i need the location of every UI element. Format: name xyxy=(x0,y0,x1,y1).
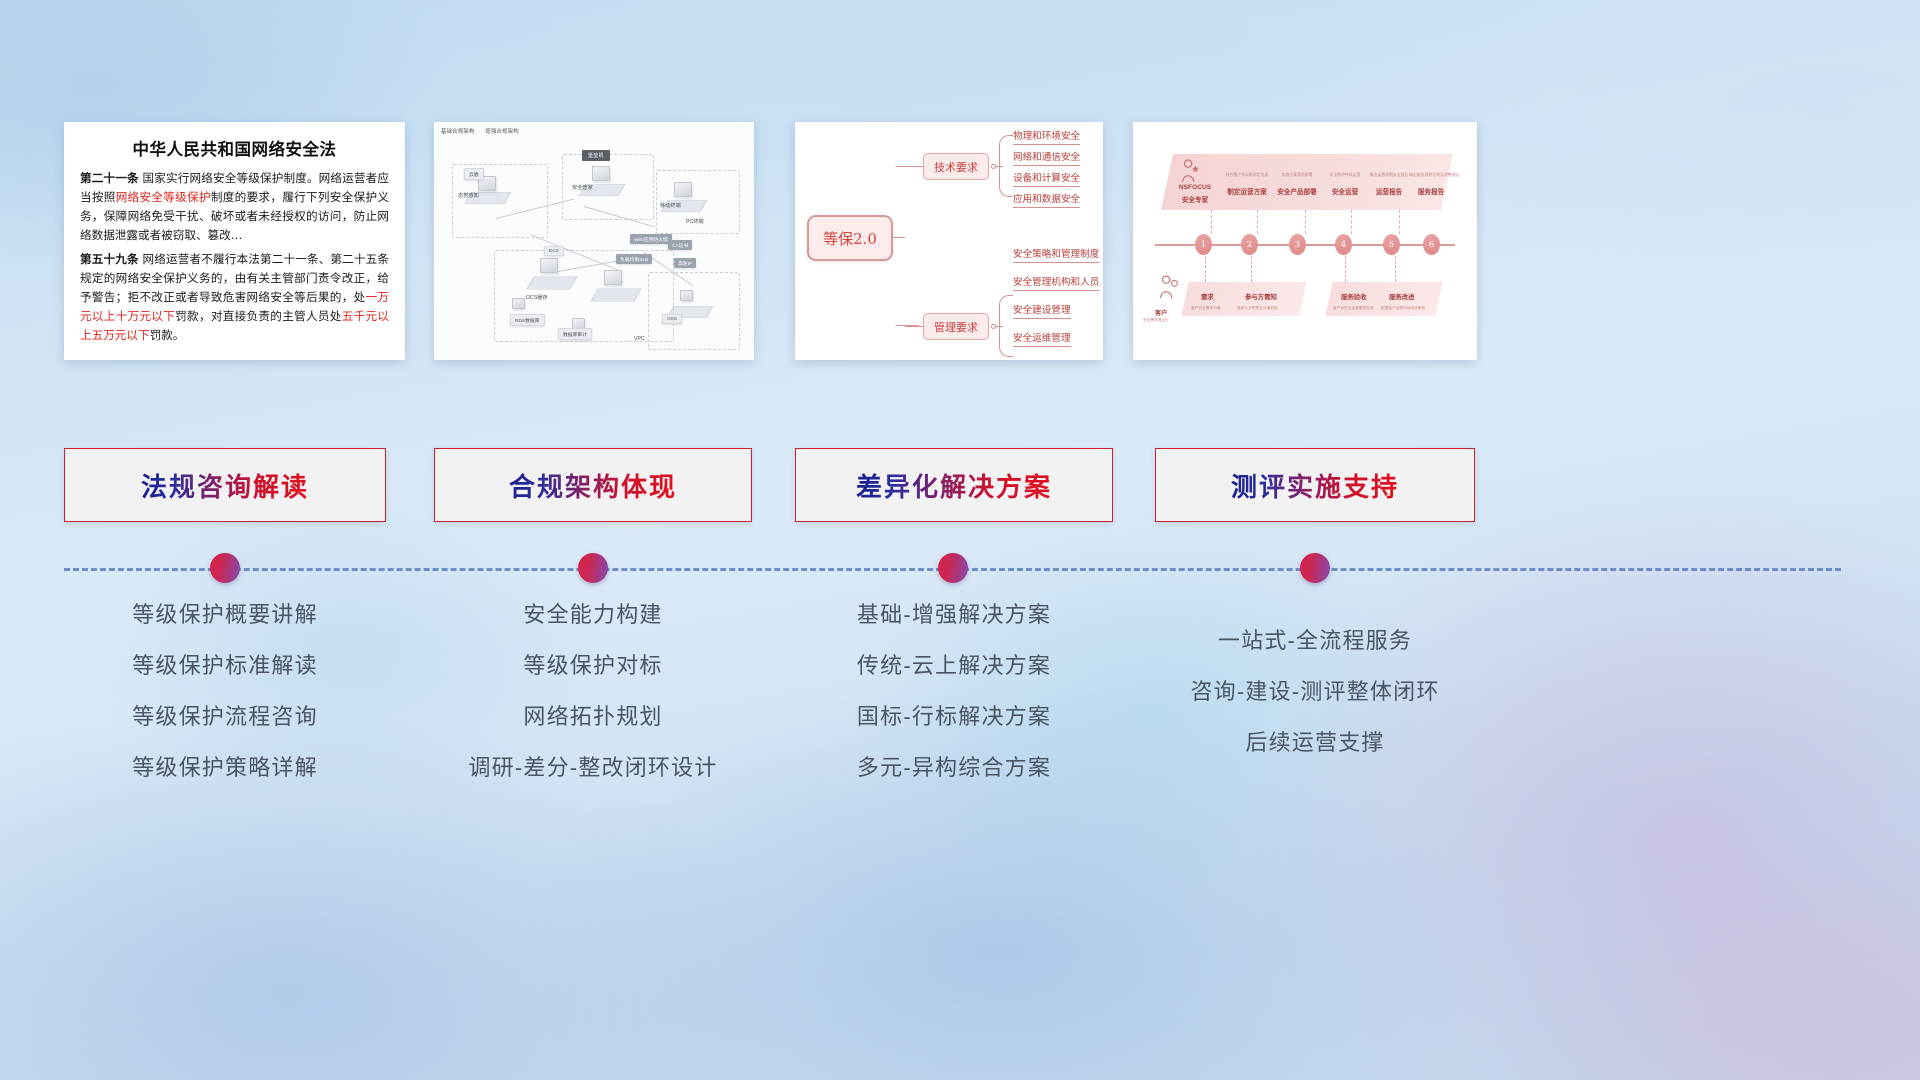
thumbnail-card-timeline[interactable]: NSFOCUS 安全专家 结合客户实际需求定出具 制定运营方案 实施方案落地部署… xyxy=(1133,122,1477,360)
architecture-node-icon xyxy=(540,258,558,273)
expert-label-line1: NSFOCUS xyxy=(1171,184,1219,191)
architecture-diagram: 基础合规架构 增强合规架构 堡垒机 xyxy=(434,122,754,360)
list-item: 国标-行标解决方案 xyxy=(795,706,1113,728)
architecture-header-right: 增强合规架构 xyxy=(485,129,519,135)
banner-title: 合规架构体现 xyxy=(509,467,677,504)
architecture-label: VPC xyxy=(634,336,645,342)
banner-row: 法规咨询解读 合规架构体现 差异化解决方案 测评实施支持 xyxy=(0,448,1920,522)
timeline-step-sub: 实施方案落地部署 xyxy=(1273,172,1321,178)
mindmap-leaf: 物理和环境安全 xyxy=(1013,128,1080,145)
timeline-lower-label: 服务改进 xyxy=(1389,292,1415,301)
architecture-pill: OSS xyxy=(662,314,682,324)
timeline-step-sub: 结合客户实际需求定出具 xyxy=(1223,172,1271,178)
architecture-node-icon xyxy=(604,270,622,285)
mindmap-branch-link xyxy=(905,166,923,167)
timeline-step-label: 制定运营方案 xyxy=(1223,186,1271,196)
timeline-connector xyxy=(1351,210,1352,234)
thumbnail-row: 中华人民共和国网络安全法 第二十一条 国家实行网络安全等级保护制度。网络运营者应… xyxy=(0,122,1920,362)
timeline-lower-label: 服务验收 xyxy=(1341,292,1367,301)
timeline-lower-sub: 各参与方职责及沟通机制 xyxy=(1237,306,1278,311)
architecture-label: 安全管家 xyxy=(572,184,593,191)
architecture-label: PC终端 xyxy=(686,218,704,225)
timeline-upper-banner: NSFOCUS 安全专家 结合客户实际需求定出具 制定运营方案 实施方案落地部署… xyxy=(1161,154,1453,210)
law-article-59-label: 第五十九条 xyxy=(80,252,139,266)
architecture-pill: CA证书 xyxy=(668,240,692,250)
architecture-plate xyxy=(526,277,578,290)
timeline-step-label: 安全产品部署 xyxy=(1273,186,1321,196)
banner-differentiated-solution[interactable]: 差异化解决方案 xyxy=(795,448,1113,522)
timeline-connector xyxy=(1305,210,1306,234)
law-article-59: 第五十九条 网络运营者不履行本法第二十一条、第二十五条规定的网络安全保护义务的，… xyxy=(80,250,389,345)
timeline-lower-sub: 根据客户反馈持续改进服务 xyxy=(1381,306,1425,311)
list-item: 后续运营支撑 xyxy=(1155,732,1475,754)
architecture-pill: 高防IP xyxy=(674,258,696,268)
law-article-59-text-b: 罚款，对直接负责的主管人员处 xyxy=(175,309,342,323)
timeline-connector xyxy=(1399,210,1400,234)
timeline-connector xyxy=(1257,210,1258,234)
mindmap-leaf: 安全建设管理 xyxy=(1013,302,1071,319)
thumbnail-card-law[interactable]: 中华人民共和国网络安全法 第二十一条 国家实行网络安全等级保护制度。网络运营者应… xyxy=(64,122,405,360)
timeline-step-sub: 输出服务周期总结及改善建议 xyxy=(1409,172,1453,178)
law-article-59-text-c: 罚款。 xyxy=(150,328,185,342)
law-article-21-label: 第二十一条 xyxy=(80,171,139,185)
expert-label-line2: 安全专家 xyxy=(1171,194,1219,204)
list-item: 基础-增强解决方案 xyxy=(795,604,1113,626)
architecture-pill: Web应用防火墙 xyxy=(630,234,672,244)
mindmap-fan-stem xyxy=(995,166,1003,167)
mindmap-leaf: 网络和通信安全 xyxy=(1013,149,1080,166)
list-item: 等级保护对标 xyxy=(434,655,752,677)
mindmap-branch-link xyxy=(905,326,923,327)
timeline-node: 5 xyxy=(1383,234,1400,255)
architecture-label: OCS缓存 xyxy=(526,294,548,301)
banner-regulation-consulting[interactable]: 法规咨询解读 xyxy=(64,448,386,522)
list-item: 传统-云上解决方案 xyxy=(795,655,1113,677)
architecture-pill: 云盾 xyxy=(464,168,484,180)
architecture-tag: 堡垒机 xyxy=(582,150,610,161)
timeline-lower-label: 需求 xyxy=(1201,292,1214,301)
list-item: 安全能力构建 xyxy=(434,604,752,626)
timeline-lower-label: 参与方需知 xyxy=(1245,292,1277,301)
architecture-label: 移动终端 xyxy=(660,202,681,209)
detail-list-column-4: 一站式-全流程服务 咨询-建设-测评整体闭环 后续运营支撑 xyxy=(1155,604,1475,783)
timeline-lower-sub: 客户对安全运营服务验收 xyxy=(1333,306,1374,311)
timeline-connector xyxy=(1345,256,1346,282)
timeline-lower-sub: 客户安全需求沟通 xyxy=(1191,306,1221,311)
list-item: 多元-异构综合方案 xyxy=(795,757,1113,779)
timeline-node: 2 xyxy=(1241,234,1258,255)
banner-title: 差异化解决方案 xyxy=(856,467,1052,504)
mindmap-fan-stem xyxy=(995,326,1003,327)
timeline-step-label: 服务报告 xyxy=(1409,186,1453,196)
mindmap-branch-technical: 技术要求 xyxy=(923,153,989,180)
timeline-step-label: 安全运营 xyxy=(1323,186,1367,196)
architecture-node-icon xyxy=(512,298,525,309)
architecture-plate xyxy=(590,289,642,302)
architecture-pill: 负载均衡SLB xyxy=(616,254,652,264)
mindmap-trunk xyxy=(895,166,919,326)
list-item: 等级保护策略详解 xyxy=(64,757,386,779)
mindmap-diagram: 等保2.0 技术要求 物理和环境安全 网络和通信安全 设备和计算安全 应用和数据… xyxy=(795,122,1103,360)
timeline-step-sub: 安全防护持续运营 xyxy=(1323,172,1367,178)
mindmap-root-node: 等保2.0 xyxy=(807,215,893,261)
service-timeline-diagram: NSFOCUS 安全专家 结合客户实际需求定出具 制定运营方案 实施方案落地部署… xyxy=(1133,122,1477,360)
law-article-21: 第二十一条 国家实行网络安全等级保护制度。网络运营者应当按照网络安全等级保护制度… xyxy=(80,169,389,245)
list-item: 一站式-全流程服务 xyxy=(1155,630,1475,652)
banner-compliance-architecture[interactable]: 合规架构体现 xyxy=(434,448,752,522)
timeline-connector xyxy=(1251,256,1252,282)
banner-evaluation-support[interactable]: 测评实施支持 xyxy=(1155,448,1475,522)
timeline-bead-2[interactable] xyxy=(578,553,608,583)
customer-person-icon xyxy=(1157,274,1179,300)
thumbnail-card-architecture[interactable]: 基础合规架构 增强合规架构 堡垒机 xyxy=(434,122,754,360)
expert-person-icon xyxy=(1179,159,1201,183)
architecture-pill: RDS数据库 xyxy=(510,314,545,326)
thumbnail-card-mindmap[interactable]: 等保2.0 技术要求 物理和环境安全 网络和通信安全 设备和计算安全 应用和数据… xyxy=(795,122,1103,360)
architecture-label: 态势感知 xyxy=(458,192,479,199)
list-item: 网络拓扑规划 xyxy=(434,706,752,728)
law-title: 中华人民共和国网络安全法 xyxy=(80,136,389,160)
law-document: 中华人民共和国网络安全法 第二十一条 国家实行网络安全等级保护制度。网络运营者应… xyxy=(64,122,405,360)
timeline-node: 1 xyxy=(1195,234,1212,255)
architecture-pill: 数据库审计 xyxy=(558,328,592,340)
banner-title: 法规咨询解读 xyxy=(141,467,309,504)
timeline-node: 6 xyxy=(1423,234,1440,255)
architecture-node-icon xyxy=(680,290,693,301)
detail-list-column-3: 基础-增强解决方案 传统-云上解决方案 国标-行标解决方案 多元-异构综合方案 xyxy=(795,604,1113,808)
timeline-node: 4 xyxy=(1335,234,1352,255)
architecture-node-icon xyxy=(674,182,692,197)
mindmap-leaf: 安全管理机构和人员 xyxy=(1013,274,1099,291)
customer-sublabel: 安全需求提出方 xyxy=(1143,318,1169,323)
detail-list-row: 等级保护概要讲解 等级保护标准解读 等级保护流程咨询 等级保护策略详解 安全能力… xyxy=(0,604,1920,864)
mindmap-branch-management: 管理要求 xyxy=(923,313,989,340)
timeline-connector xyxy=(1211,210,1212,234)
architecture-header: 基础合规架构 增强合规架构 xyxy=(441,127,528,135)
law-article-21-highlight: 网络安全等级保护 xyxy=(116,190,211,204)
list-item: 调研-差分-整改闭环设计 xyxy=(434,757,752,779)
mindmap-leaf: 设备和计算安全 xyxy=(1013,170,1080,187)
timeline-bead-1[interactable] xyxy=(210,553,240,583)
list-item: 等级保护概要讲解 xyxy=(64,604,386,626)
timeline-step-label: 运营报告 xyxy=(1367,186,1411,196)
timeline-connector xyxy=(1395,256,1396,282)
timeline-bead-3[interactable] xyxy=(938,553,968,583)
mindmap-trunk-link xyxy=(893,237,905,238)
architecture-node-icon xyxy=(592,166,610,181)
timeline-node: 3 xyxy=(1289,234,1306,255)
timeline-connector xyxy=(1205,256,1206,282)
mindmap-leaf: 安全策略和管理制度 xyxy=(1013,246,1099,263)
detail-list-column-2: 安全能力构建 等级保护对标 网络拓扑规划 调研-差分-整改闭环设计 xyxy=(434,604,752,808)
timeline-step-sub: 输出运营周期安全报告 xyxy=(1367,172,1411,178)
timeline-bead-4[interactable] xyxy=(1300,553,1330,583)
list-item: 等级保护标准解读 xyxy=(64,655,386,677)
mindmap-leaf: 应用和数据安全 xyxy=(1013,191,1080,208)
mindmap-leaf: 安全运维管理 xyxy=(1013,330,1071,347)
list-item: 等级保护流程咨询 xyxy=(64,706,386,728)
banner-title: 测评实施支持 xyxy=(1231,467,1399,504)
detail-list-column-1: 等级保护概要讲解 等级保护标准解读 等级保护流程咨询 等级保护策略详解 xyxy=(64,604,386,808)
list-item: 咨询-建设-测评整体闭环 xyxy=(1155,681,1475,703)
architecture-header-left: 基础合规架构 xyxy=(441,129,475,135)
architecture-pill: ECS xyxy=(544,246,564,256)
customer-label: 客户 xyxy=(1155,308,1167,317)
